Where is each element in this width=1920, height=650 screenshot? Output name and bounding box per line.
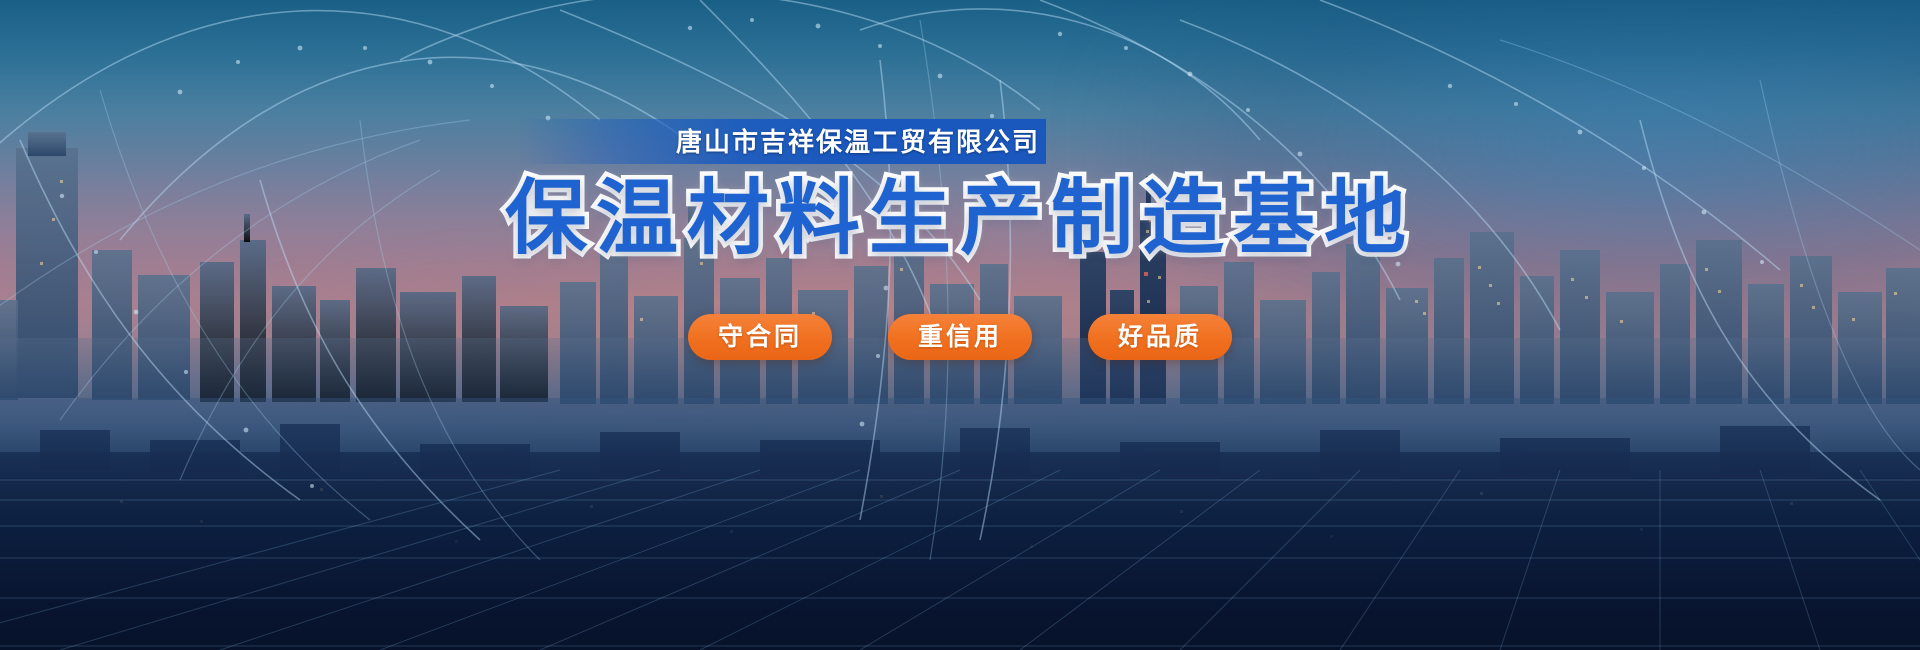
badge-list: 守合同 重信用 好品质	[0, 314, 1920, 360]
hero-banner: .ln{fill:none;stroke:#bfe3fb;stroke-opac…	[0, 0, 1920, 650]
badge-zhongxinyong[interactable]: 重信用	[888, 314, 1032, 360]
badge-label: 守合同	[718, 325, 802, 350]
company-name-bar: 唐山市吉祥保温工贸有限公司	[518, 119, 1046, 164]
company-name-text: 唐山市吉祥保温工贸有限公司	[676, 129, 1040, 155]
headline-text: 保温材料生产制造基地	[505, 178, 1415, 260]
badge-haopinzhi[interactable]: 好品质	[1088, 314, 1232, 360]
headline-container: 保温材料生产制造基地	[0, 178, 1920, 260]
badge-label: 好品质	[1118, 325, 1202, 350]
badge-label: 重信用	[918, 325, 1002, 350]
badge-shouhetong[interactable]: 守合同	[688, 314, 832, 360]
